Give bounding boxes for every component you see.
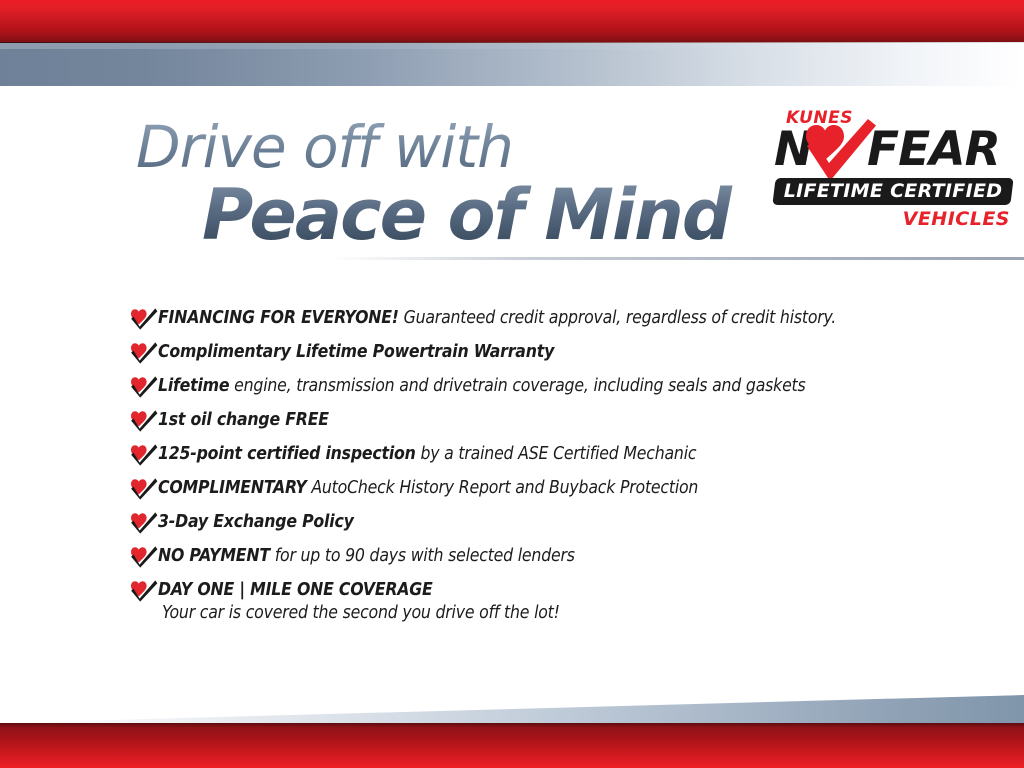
list-item: Complimentary Lifetime Powertrain Warran… [130,340,930,365]
benefit-line: COMPLIMENTARY AutoCheck History Report a… [158,477,930,499]
heart-check-icon [130,512,158,534]
benefit-line: 3-Day Exchange Policy [158,511,930,533]
list-item-text: Complimentary Lifetime Powertrain Warran… [158,340,930,363]
benefit-lead-text: 125-point certified inspection [158,444,416,464]
bottom-gray-wedge [0,695,1024,723]
list-item-text: 125-point certified inspection by a trai… [158,442,930,465]
list-item: 3-Day Exchange Policy [130,510,930,535]
benefit-rest-text: AutoCheck History Report and Buyback Pro… [307,478,699,498]
heart-check-icon [130,308,158,330]
benefit-lead-text: Lifetime [158,376,229,396]
logo-vehicles-text: VEHICLES [903,208,1010,230]
list-item: FINANCING FOR EVERYONE! Guaranteed credi… [130,306,930,331]
heart-check-icon [130,376,158,398]
benefit-line: Lifetime engine, transmission and drivet… [158,375,930,397]
list-item-text: 3-Day Exchange Policy [158,510,930,533]
bottom-decorative-band [0,678,1024,768]
benefit-line: Complimentary Lifetime Powertrain Warran… [158,341,930,363]
top-band-sheen [0,43,1024,49]
headline-line-1: Drive off with [136,118,776,176]
benefit-lead-text: 3-Day Exchange Policy [158,512,354,532]
list-item: 125-point certified inspection by a trai… [130,442,930,467]
benefit-line: 1st oil change FREE [158,409,930,431]
benefit-lead-text: Complimentary Lifetime Powertrain Warran… [158,342,554,362]
list-item-text: COMPLIMENTARY AutoCheck History Report a… [158,476,930,499]
benefit-lead-text: 1st oil change FREE [158,410,329,430]
promo-card: Drive off with Peace of Mind KUNES N FEA… [0,0,1024,768]
header-divider [330,257,1024,260]
heart-check-icon [130,580,158,602]
kunes-no-fear-logo: KUNES N FEAR LIFETIME CERTIFIED VEHICLES [772,108,1016,240]
benefit-rest-text: engine, transmission and drivetrain cove… [229,376,805,396]
heart-check-icon [130,478,158,500]
headline: Drive off with Peace of Mind [136,118,776,252]
heart-check-icon [130,342,158,364]
list-item: DAY ONE | MILE ONE COVERAGE Your car is … [130,578,930,625]
list-item-text: Lifetime engine, transmission and drivet… [158,374,930,397]
benefit-sub-text: Your car is covered the second you drive… [162,601,930,625]
top-gray-gradient-bar [0,43,1024,86]
logo-lifetime-certified-text: LIFETIME CERTIFIED [774,178,1012,205]
headline-line-2: Peace of Mind [202,178,776,252]
top-decorative-band [0,0,1024,88]
logo-nofear-wordmark: N FEAR [774,126,1016,176]
benefit-lead-text: DAY ONE | MILE ONE COVERAGE [158,580,433,600]
benefit-rest-text: for up to 90 days with selected lenders [270,546,575,566]
list-item: Lifetime engine, transmission and drivet… [130,374,930,399]
top-red-bar [0,0,1024,43]
benefits-list: FINANCING FOR EVERYONE! Guaranteed credi… [130,306,930,634]
list-item-text: NO PAYMENT for up to 90 days with select… [158,544,930,567]
benefit-lead-text: NO PAYMENT [158,546,270,566]
heart-check-icon [130,410,158,432]
heart-check-icon [130,546,158,568]
logo-word-fear: FEAR [867,126,1000,173]
bottom-red-bar [0,723,1024,768]
list-item: 1st oil change FREE [130,408,930,433]
benefit-rest-text: by a trained ASE Certified Mechanic [416,444,697,464]
list-item-text: 1st oil change FREE [158,408,930,431]
benefit-line: NO PAYMENT for up to 90 days with select… [158,545,930,567]
list-item: NO PAYMENT for up to 90 days with select… [130,544,930,569]
heart-check-icon [130,444,158,466]
benefit-lead-text: FINANCING FOR EVERYONE! [158,308,399,328]
list-item-text: DAY ONE | MILE ONE COVERAGE Your car is … [158,578,930,625]
list-item: COMPLIMENTARY AutoCheck History Report a… [130,476,930,501]
list-item-text: FINANCING FOR EVERYONE! Guaranteed credi… [158,306,930,329]
benefit-line: DAY ONE | MILE ONE COVERAGE [158,579,930,601]
logo-lifetime-certified-bar: LIFETIME CERTIFIED [772,178,1013,205]
benefit-rest-text: Guaranteed credit approval, regardless o… [399,308,836,328]
benefit-lead-text: COMPLIMENTARY [158,478,307,498]
benefit-line: FINANCING FOR EVERYONE! Guaranteed credi… [158,307,930,329]
benefit-line: 125-point certified inspection by a trai… [158,443,930,465]
